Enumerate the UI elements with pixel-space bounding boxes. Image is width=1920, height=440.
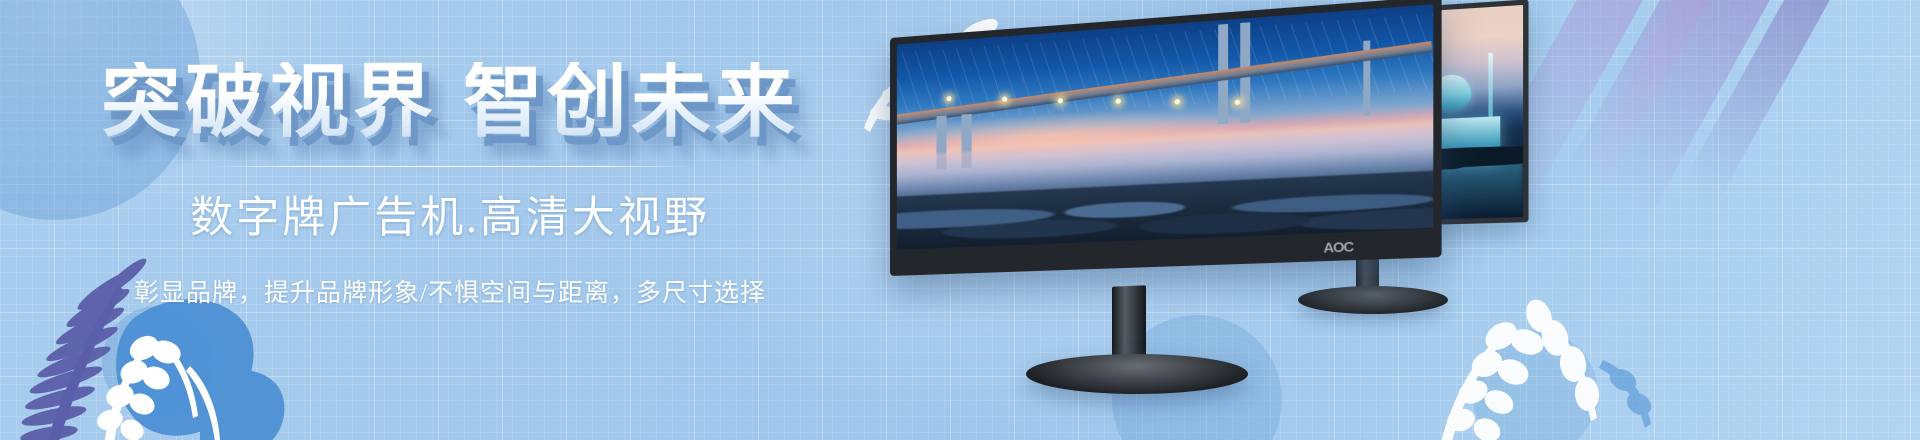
aoc-logo: AOC	[1323, 239, 1353, 256]
monitor-front-panel: AOC	[890, 0, 1442, 276]
tagline: 彰显品牌，提升品牌形象/不惧空间与距离，多尺寸选择	[134, 273, 766, 309]
monitor-front-screen	[897, 4, 1433, 249]
subtitle: 数字牌广告机.高清大视野	[190, 183, 710, 245]
headline-divider	[215, 166, 685, 167]
headline: 突破视界智创未来	[101, 62, 799, 142]
headline-part1: 突破视界	[101, 57, 437, 146]
bridge-lamp-4	[1116, 98, 1121, 104]
monitor-front-stand-base	[1026, 354, 1248, 394]
bridge-lamp-5	[1174, 99, 1179, 105]
mosque-minaret-right	[1488, 53, 1492, 125]
promo-banner: 突破视界智创未来 数字牌广告机.高清大视野 彰显品牌，提升品牌形象/不惧空间与距…	[0, 0, 1920, 440]
headline-part2: 智创未来	[463, 57, 799, 146]
copy-block: 突破视界智创未来 数字牌广告机.高清大视野 彰显品牌，提升品牌形象/不惧空间与距…	[0, 0, 900, 440]
monitor-front: AOC	[890, 38, 1450, 398]
product-display-group: AOC	[880, 0, 1920, 440]
bridge-lamp-6	[1234, 99, 1240, 105]
